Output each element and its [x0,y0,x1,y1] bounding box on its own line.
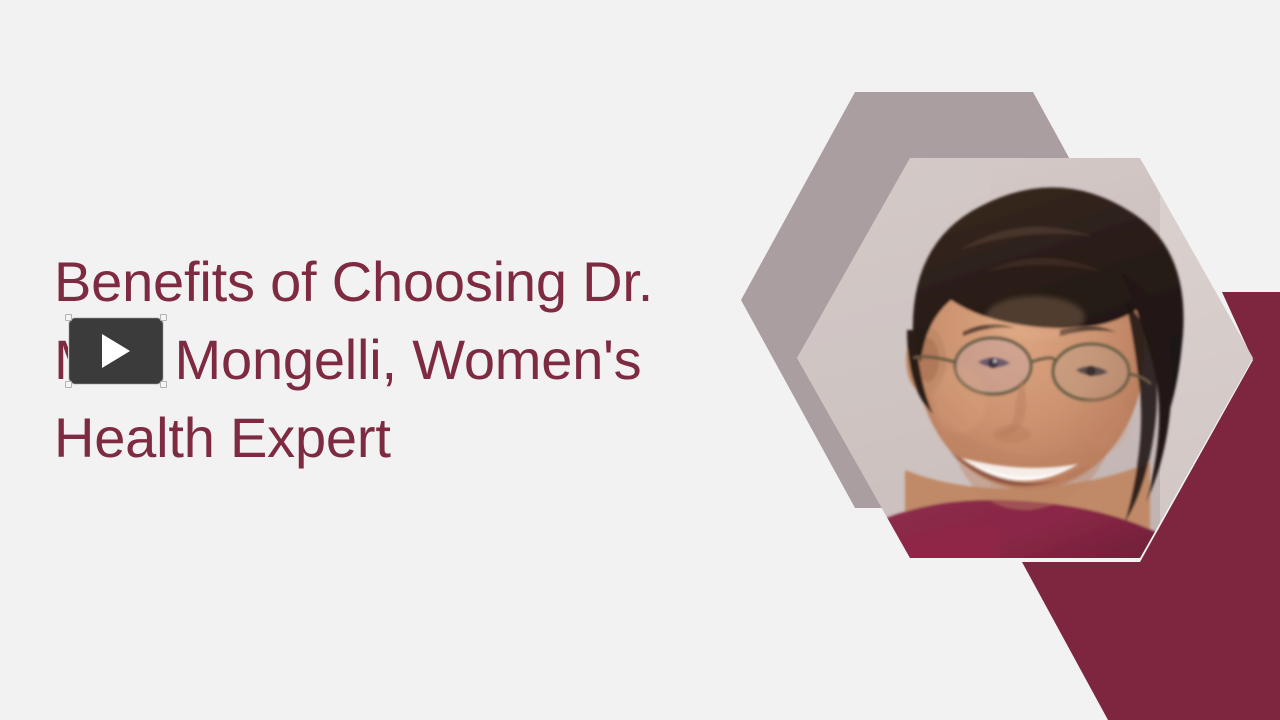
presentation-slide: Benefits of Choosing Dr. Max Mongelli, W… [0,0,1280,720]
eyeglasses [913,338,1151,400]
resize-handle-bottom-left[interactable] [65,381,72,388]
smile [950,452,1088,486]
play-icon[interactable] [102,334,130,368]
resize-handle-top-left[interactable] [65,314,72,321]
video-placeholder[interactable] [66,315,166,387]
accent-hexagon [1022,292,1280,720]
back-hexagon [741,92,1147,508]
portrait-hexagon [790,150,1260,582]
video-frame[interactable] [69,318,163,384]
resize-handle-top-right[interactable] [160,314,167,321]
resize-handle-bottom-right[interactable] [160,381,167,388]
